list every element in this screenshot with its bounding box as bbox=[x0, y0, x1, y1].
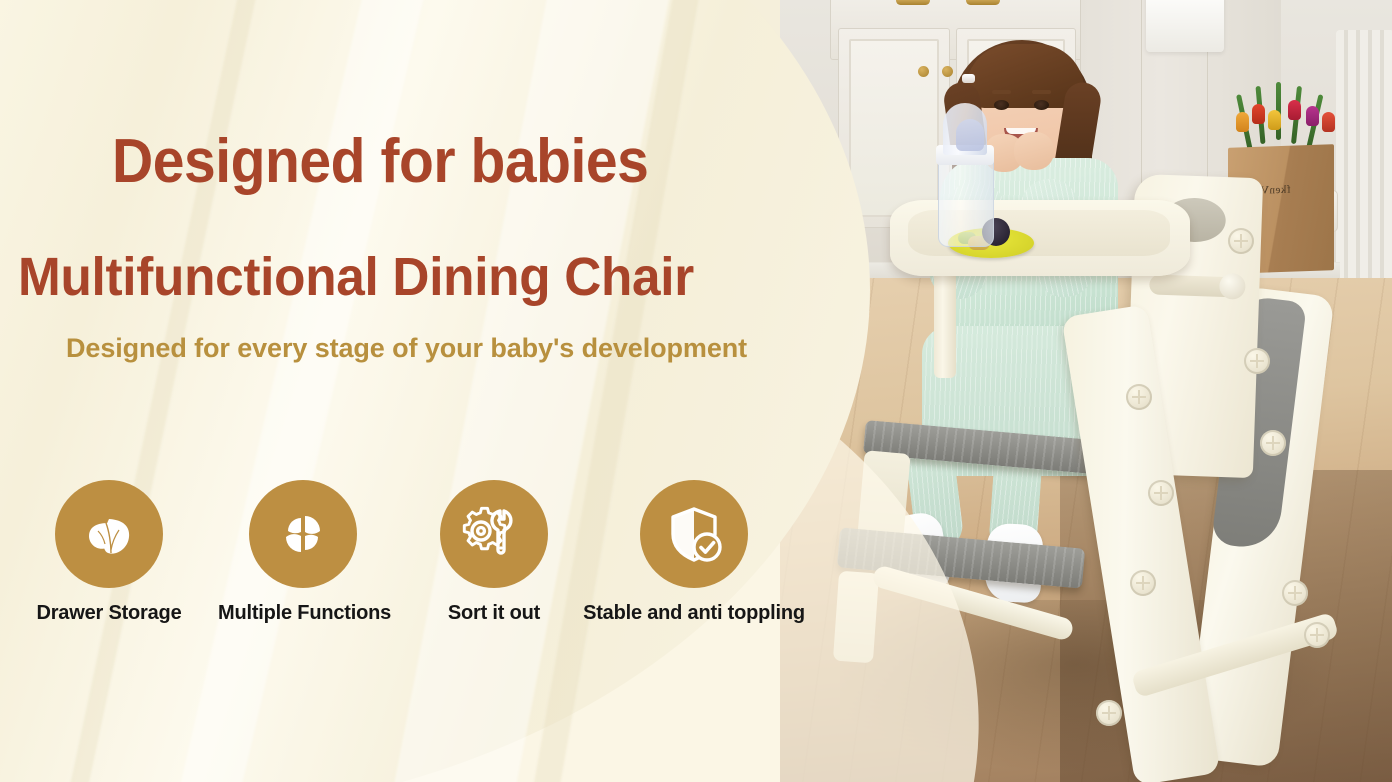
feature-sort-it-out[interactable]: Sort it out bbox=[424, 480, 564, 625]
screw-cap bbox=[1260, 430, 1286, 456]
feature-stable-anti-toppling[interactable]: Stable and anti toppling bbox=[580, 480, 808, 625]
tulip bbox=[1306, 106, 1319, 126]
page-tagline: Designed for every stage of your baby's … bbox=[66, 335, 747, 362]
gear-wrench-icon bbox=[440, 480, 548, 588]
adjuster-knob bbox=[1219, 273, 1246, 300]
screw-cap bbox=[1096, 700, 1122, 726]
feature-label: Multiple Functions bbox=[218, 602, 388, 625]
page-subtitle: Multifunctional Dining Chair bbox=[18, 250, 694, 304]
tulip bbox=[1252, 104, 1265, 124]
bottle-cap bbox=[943, 103, 987, 155]
leaves-icon bbox=[55, 480, 163, 588]
feature-multiple-functions[interactable]: Multiple Functions bbox=[218, 480, 388, 625]
tulip bbox=[1268, 110, 1281, 130]
chair-tray bbox=[890, 200, 1190, 276]
feature-label: Drawer Storage bbox=[24, 602, 194, 625]
feature-label: Stable and anti toppling bbox=[580, 602, 808, 625]
eyebrow bbox=[1032, 90, 1051, 94]
tray-stem bbox=[934, 268, 956, 378]
tulip bbox=[1322, 112, 1335, 132]
product-banner: fkenV par bbox=[0, 0, 1392, 782]
bottle-teat bbox=[956, 119, 984, 151]
cabinet-handle bbox=[896, 0, 930, 5]
bottle-body bbox=[938, 153, 994, 247]
screw-cap bbox=[1130, 570, 1156, 596]
tulip bbox=[1288, 100, 1301, 120]
tulip bbox=[1236, 112, 1249, 132]
clover-four-petal-icon bbox=[249, 480, 357, 588]
feature-list: Drawer Storage Multiple Functions bbox=[0, 480, 830, 630]
screw-cap bbox=[1228, 228, 1254, 254]
eye bbox=[994, 100, 1009, 110]
screw-cap bbox=[1148, 480, 1174, 506]
eyebrow bbox=[992, 90, 1011, 94]
feature-label: Sort it out bbox=[424, 602, 564, 625]
hair-clip bbox=[962, 74, 975, 83]
shield-check-icon bbox=[640, 480, 748, 588]
page-title: Designed for babies bbox=[112, 131, 648, 193]
screw-cap bbox=[1304, 622, 1330, 648]
cabinet-handle bbox=[966, 0, 1000, 5]
baby-bottle bbox=[938, 105, 992, 245]
screw-cap bbox=[1244, 348, 1270, 374]
screw-cap bbox=[1282, 580, 1308, 606]
eye bbox=[1034, 100, 1049, 110]
feature-drawer-storage[interactable]: Drawer Storage bbox=[24, 480, 194, 625]
screw-cap bbox=[1126, 384, 1152, 410]
